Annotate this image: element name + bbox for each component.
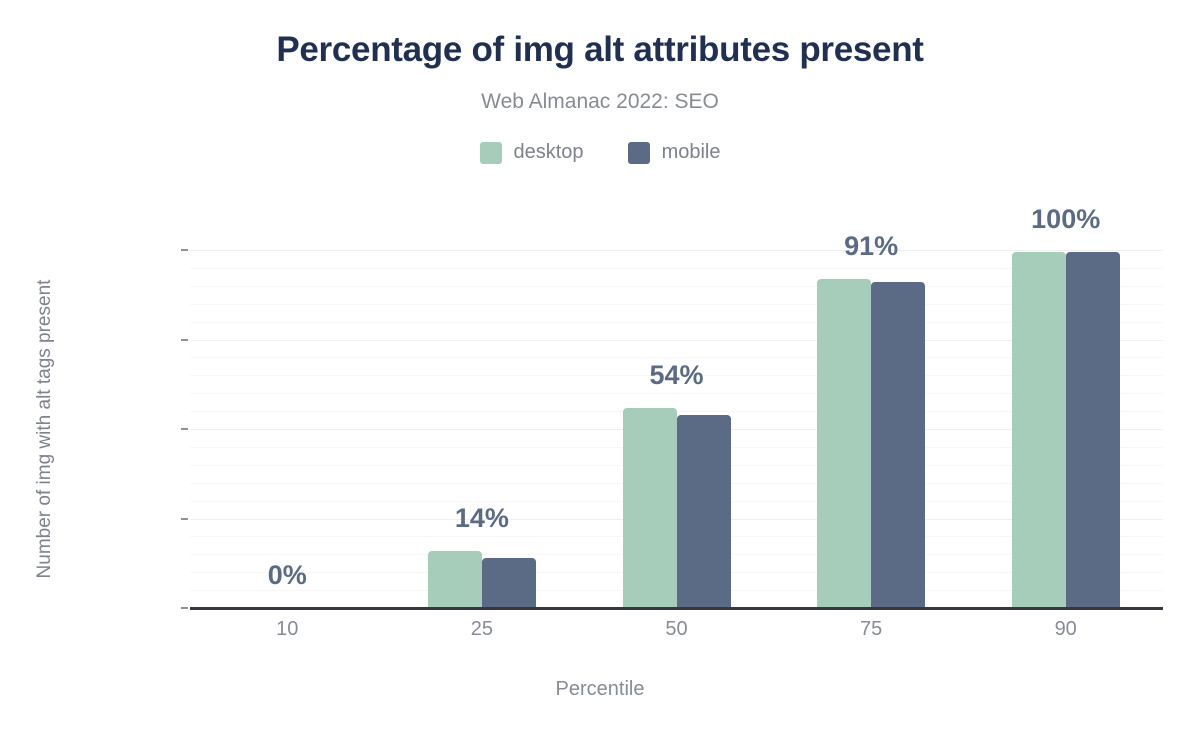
y-axis-tick-mark <box>181 428 188 430</box>
chart-subtitle: Web Almanac 2022: SEO <box>0 90 1200 114</box>
plot-area: Number of img with alt tags present <box>190 250 1163 608</box>
y-axis-tick-mark <box>181 607 188 609</box>
legend-swatch-desktop <box>480 142 502 164</box>
y-axis-tick-mark <box>181 249 188 251</box>
chart-figure: Percentage of img alt attributes present… <box>0 0 1200 742</box>
data-label-50: 54% <box>597 360 757 391</box>
bar-mobile-90[interactable] <box>1066 252 1120 608</box>
bar-mobile-50[interactable] <box>677 415 731 608</box>
y-axis-tick-mark <box>181 518 188 520</box>
bar-desktop-75[interactable] <box>817 279 871 608</box>
bar-mobile-75[interactable] <box>871 282 925 608</box>
data-label-90: 100% <box>986 204 1146 235</box>
data-label-75: 91% <box>791 231 951 262</box>
y-axis-title: Number of img with alt tags present <box>34 219 56 639</box>
x-axis-tick-label: 50 <box>577 618 777 641</box>
x-axis-tick-label: 75 <box>771 618 971 641</box>
bar-desktop-90[interactable] <box>1012 252 1066 608</box>
x-axis-tick-label: 90 <box>966 618 1166 641</box>
gridline <box>190 250 1163 251</box>
bar-desktop-50[interactable] <box>623 408 677 608</box>
chart-legend: desktop mobile <box>0 141 1200 164</box>
x-axis-title: Percentile <box>0 678 1200 701</box>
data-label-25: 14% <box>402 503 562 534</box>
x-axis-tick-label: 10 <box>187 618 387 641</box>
legend-item-mobile[interactable]: mobile <box>628 141 721 164</box>
legend-label-desktop: desktop <box>514 141 584 164</box>
data-label-10: 0% <box>207 560 367 591</box>
legend-swatch-mobile <box>628 142 650 164</box>
legend-item-desktop[interactable]: desktop <box>480 141 584 164</box>
x-axis-tick-label: 25 <box>382 618 582 641</box>
bar-desktop-25[interactable] <box>428 551 482 608</box>
chart-title: Percentage of img alt attributes present <box>0 30 1200 70</box>
legend-label-mobile: mobile <box>662 141 721 164</box>
y-axis-tick-mark <box>181 339 188 341</box>
x-axis-line <box>190 607 1163 610</box>
bar-mobile-25[interactable] <box>482 558 536 608</box>
